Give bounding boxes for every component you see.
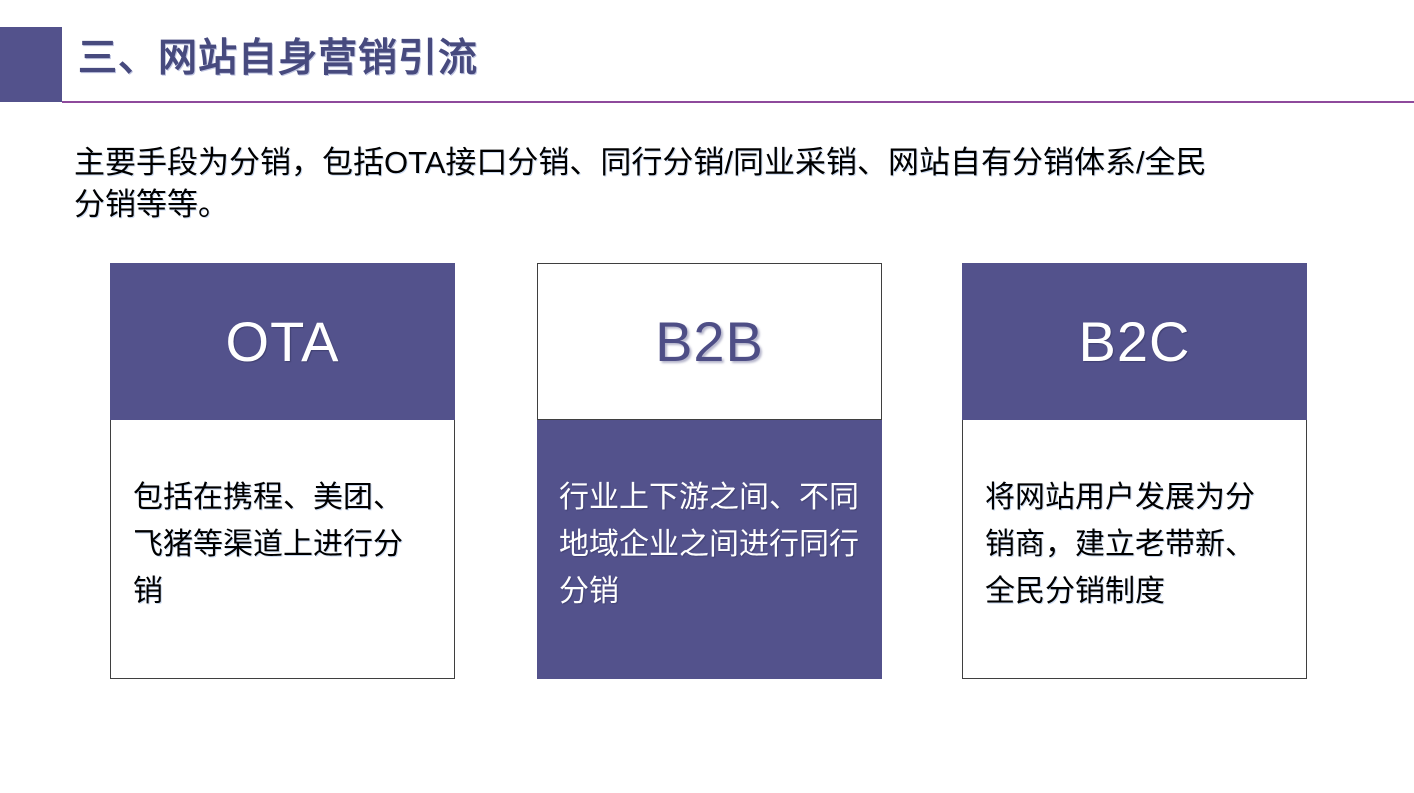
card-ota-title: OTA bbox=[226, 314, 340, 370]
card-group: OTA 包括在携程、美团、飞猪等渠道上进行分销 B2B 行业上下游之间、不同地域… bbox=[0, 0, 1414, 793]
card-b2b-body: 行业上下游之间、不同地域企业之间进行同行分销 bbox=[537, 420, 882, 679]
card-b2c[interactable]: B2C 将网站用户发展为分销商，建立老带新、全民分销制度 bbox=[962, 263, 1307, 679]
card-b2c-title: B2C bbox=[1079, 314, 1191, 370]
card-b2b[interactable]: B2B 行业上下游之间、不同地域企业之间进行同行分销 bbox=[537, 263, 882, 679]
card-ota-description: 包括在携程、美团、飞猪等渠道上进行分销 bbox=[111, 474, 454, 625]
card-b2c-description: 将网站用户发展为分销商，建立老带新、全民分销制度 bbox=[963, 474, 1306, 625]
card-b2c-body: 将网站用户发展为分销商，建立老带新、全民分销制度 bbox=[962, 420, 1307, 679]
slide-canvas: 三、网站自身营销引流 主要手段为分销，包括OTA接口分销、同行分销/同业采销、网… bbox=[0, 0, 1414, 793]
card-b2b-title: B2B bbox=[655, 314, 764, 370]
card-ota-body: 包括在携程、美团、飞猪等渠道上进行分销 bbox=[110, 420, 455, 679]
card-ota-header: OTA bbox=[110, 263, 455, 420]
card-ota[interactable]: OTA 包括在携程、美团、飞猪等渠道上进行分销 bbox=[110, 263, 455, 679]
card-b2c-header: B2C bbox=[962, 263, 1307, 420]
card-b2b-description: 行业上下游之间、不同地域企业之间进行同行分销 bbox=[537, 474, 882, 625]
card-b2b-header: B2B bbox=[537, 263, 882, 420]
